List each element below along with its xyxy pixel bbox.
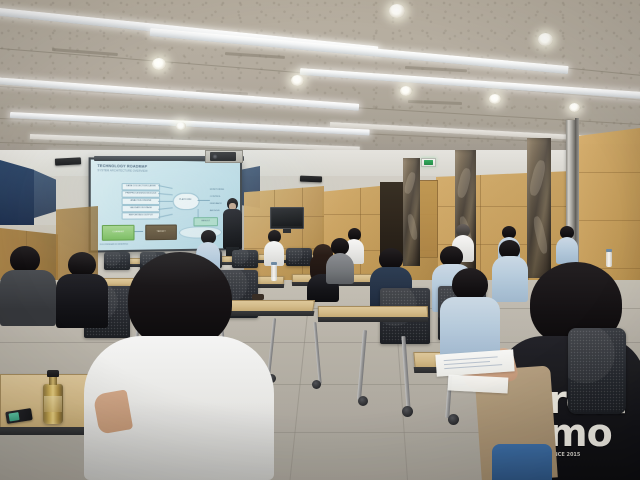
slide-bottom-box-target: TARGET xyxy=(145,224,177,240)
attendee-body xyxy=(556,237,578,264)
wood-panel-seam xyxy=(579,172,640,173)
wall-panel-navy-left xyxy=(0,160,34,230)
desk-item-dark xyxy=(252,294,264,300)
wall-speaker-left xyxy=(55,157,81,165)
marble-column xyxy=(527,138,551,278)
attendee-foreground-white-shirt xyxy=(84,252,274,480)
slide-right-label: MONITORING xyxy=(210,188,236,193)
attendee-head xyxy=(10,246,40,273)
slide-subtitle: SYSTEM ARCHITECTURE OVERVIEW xyxy=(97,169,147,173)
ceiling-downlight xyxy=(569,103,580,112)
slide-result-box: RESULT xyxy=(193,217,217,226)
wall-speaker-right xyxy=(300,176,322,183)
slide-list-row: REPORTING OUTPUT xyxy=(122,212,161,219)
attendee-head xyxy=(128,252,232,348)
printed-handout xyxy=(448,374,509,393)
ceiling-downlight xyxy=(489,94,501,104)
attendee-jeans xyxy=(492,444,552,480)
chair-caster xyxy=(312,380,321,389)
chair-caster xyxy=(448,414,459,425)
ceiling-downlight xyxy=(389,4,405,18)
projector-lens-icon xyxy=(212,154,218,159)
slide-footer: 2024 RESEARCH BRIEFING xyxy=(100,241,165,247)
marble-vein xyxy=(406,214,418,241)
ceiling-downlight xyxy=(538,33,553,46)
chair-mesh xyxy=(570,330,624,412)
attendee xyxy=(0,246,56,326)
side-monitor-stand xyxy=(283,229,291,233)
slide-list-row: VALIDATION STAGE xyxy=(122,205,161,212)
wood-panel-seam xyxy=(579,220,640,221)
phone-sticker xyxy=(8,412,19,421)
slide-connector xyxy=(158,207,173,209)
slide-bottom-box-current: CURRENT xyxy=(102,225,135,241)
marble-vein xyxy=(403,171,417,194)
mesh-chair xyxy=(568,328,626,414)
attendee-body xyxy=(0,270,56,326)
slide-connector xyxy=(198,209,199,217)
ceiling-downlight xyxy=(291,75,304,86)
presenter-body xyxy=(223,209,242,249)
slide-connector xyxy=(158,193,173,195)
side-monitor-screen xyxy=(272,209,302,226)
slide-arrow xyxy=(198,200,210,201)
attendee xyxy=(440,268,500,362)
attendee-arm xyxy=(93,389,133,434)
slide-connector xyxy=(158,201,173,202)
attendee xyxy=(556,226,578,264)
chair-caster xyxy=(402,406,413,417)
tee-text-small: SINCE 2015 xyxy=(548,453,640,457)
attendee xyxy=(326,238,354,284)
bottle-label xyxy=(44,396,62,412)
chair-caster xyxy=(358,396,368,406)
slide-list-row: PREPROCESSING MODULE xyxy=(122,190,161,197)
marble-vein xyxy=(456,167,472,198)
marble-vein xyxy=(532,215,549,254)
bottle-cap xyxy=(47,370,59,377)
ceiling-downlight xyxy=(152,58,166,70)
marble-vein xyxy=(528,159,547,197)
water-bottle-cap xyxy=(606,249,612,252)
slide-connector xyxy=(158,214,173,218)
attendee-body xyxy=(326,253,354,284)
handout-text-line xyxy=(444,364,502,369)
exit-sign xyxy=(421,158,436,167)
slide-connector xyxy=(158,185,173,188)
table-edge xyxy=(318,317,428,322)
slide-arrow xyxy=(135,231,144,233)
ceiling-downlight xyxy=(176,122,186,130)
exit-icon xyxy=(424,160,433,165)
ceiling-downlight xyxy=(400,86,412,96)
slide-cloud-label: PLATFORM xyxy=(173,197,198,203)
seminar-room-photo: TECHNOLOGY ROADMAP SYSTEM ARCHITECTURE O… xyxy=(0,0,640,480)
slide-list-row: ANALYSIS ENGINE xyxy=(122,198,161,205)
